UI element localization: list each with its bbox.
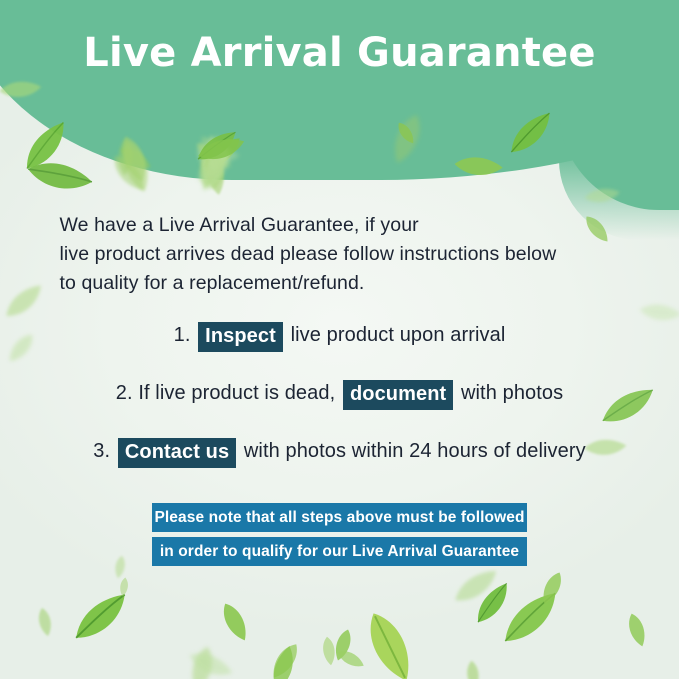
step-text-after-1: live product upon arrival: [291, 324, 506, 346]
step-number-3: 3.: [93, 440, 110, 462]
step-highlight-document: document: [343, 380, 453, 410]
intro-line-2: live product arrives dead please follow …: [60, 240, 620, 269]
step-item-3: 3. Contact us with photos within 24 hour…: [0, 436, 679, 468]
note-bar-line-1: Please note that all steps above must be…: [152, 503, 527, 532]
step-text-before-2: If live product is dead,: [138, 382, 335, 404]
step-item-1: 1. Inspect live product upon arrival: [0, 320, 679, 352]
step-number-2: 2.: [116, 382, 133, 404]
note-banner: Please note that all steps above must be…: [152, 503, 527, 566]
page-title: Live Arrival Guarantee: [0, 30, 679, 76]
step-highlight-contact-us: Contact us: [118, 438, 236, 468]
intro-paragraph: We have a Live Arrival Guarantee, if you…: [60, 211, 620, 298]
step-text-after-2: with photos: [461, 382, 563, 404]
step-number-1: 1.: [174, 324, 191, 346]
intro-line-1: We have a Live Arrival Guarantee, if you…: [60, 211, 620, 240]
steps-list: 1. Inspect live product upon arrival 2. …: [0, 320, 679, 494]
step-text-after-3: with photos within 24 hours of delivery: [244, 440, 586, 462]
intro-line-3: to quality for a replacement/refund.: [60, 269, 620, 298]
note-bar-line-2: in order to qualify for our Live Arrival…: [152, 537, 527, 566]
step-item-2: 2. If live product is dead, document wit…: [0, 378, 679, 410]
live-arrival-guarantee-poster: Live Arrival Guarantee: [0, 0, 679, 679]
step-highlight-inspect: Inspect: [198, 322, 283, 352]
